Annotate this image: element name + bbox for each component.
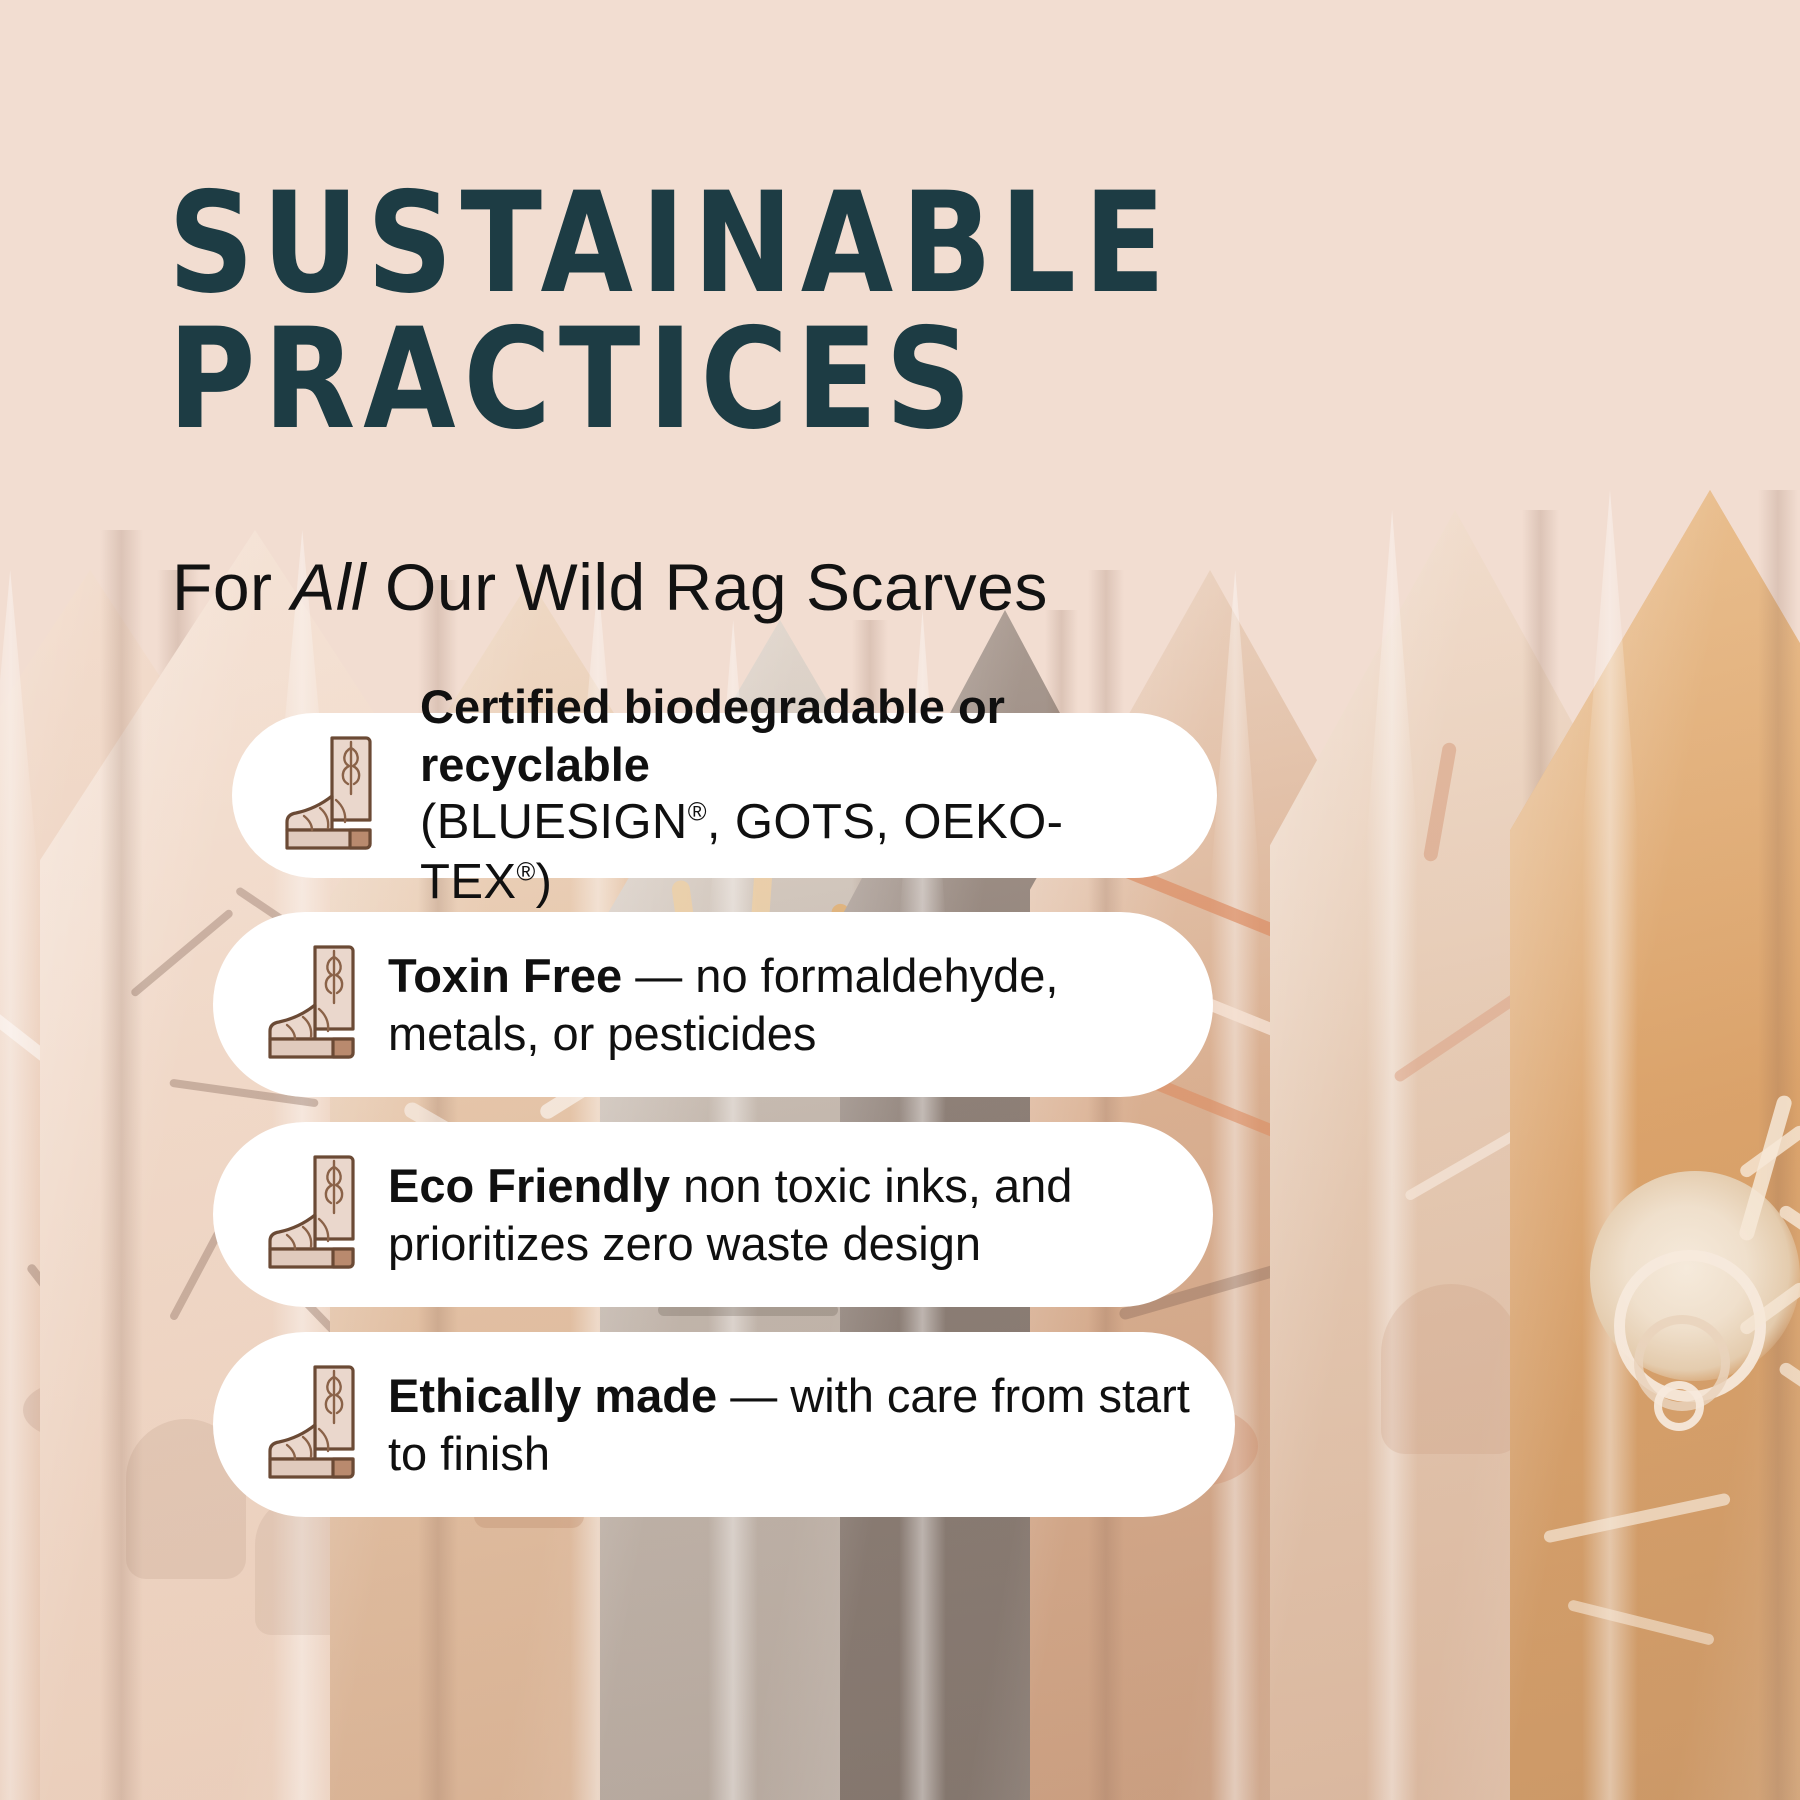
feature-card-text: Eco Friendly non toxic inks, and priorit… xyxy=(388,1157,1173,1272)
cowboy-boot-icon xyxy=(257,943,361,1067)
feature-card: Ethically made — with care from start to… xyxy=(213,1332,1235,1517)
feature-card-text: Toxin Free — no formaldehyde, metals, or… xyxy=(388,947,1173,1062)
cowboy-boot-icon xyxy=(257,1363,361,1487)
feature-card-bold: Certified biodegradable or recyclable xyxy=(420,680,1005,790)
feature-card-list: Certified biodegradable or recyclable (B… xyxy=(0,0,1800,1800)
feature-card-bold: Eco Friendly xyxy=(388,1159,670,1212)
feature-card-text: Ethically made — with care from start to… xyxy=(388,1367,1195,1482)
feature-card: Eco Friendly non toxic inks, and priorit… xyxy=(213,1122,1213,1307)
cert-prefix: (BLUESIGN xyxy=(420,795,688,849)
feature-card-sub: (BLUESIGN®, GOTS, OEKO-TEX®) xyxy=(420,793,1177,913)
feature-card-bold: Ethically made xyxy=(388,1369,717,1422)
feature-card-text: Certified biodegradable or recyclable (B… xyxy=(420,678,1177,912)
cowboy-boot-icon xyxy=(257,1153,361,1277)
registered-mark-icon: ® xyxy=(688,799,707,827)
feature-card-bold: Toxin Free xyxy=(388,949,622,1002)
registered-mark-icon: ® xyxy=(517,859,536,887)
cowboy-boot-icon xyxy=(274,734,378,858)
feature-card: Toxin Free — no formaldehyde, metals, or… xyxy=(213,912,1213,1097)
cert-suffix: ) xyxy=(536,855,553,909)
poster-canvas: SUSTAINABLE PRACTICES For All Our Wild R… xyxy=(0,0,1800,1800)
feature-card: Certified biodegradable or recyclable (B… xyxy=(232,713,1217,878)
